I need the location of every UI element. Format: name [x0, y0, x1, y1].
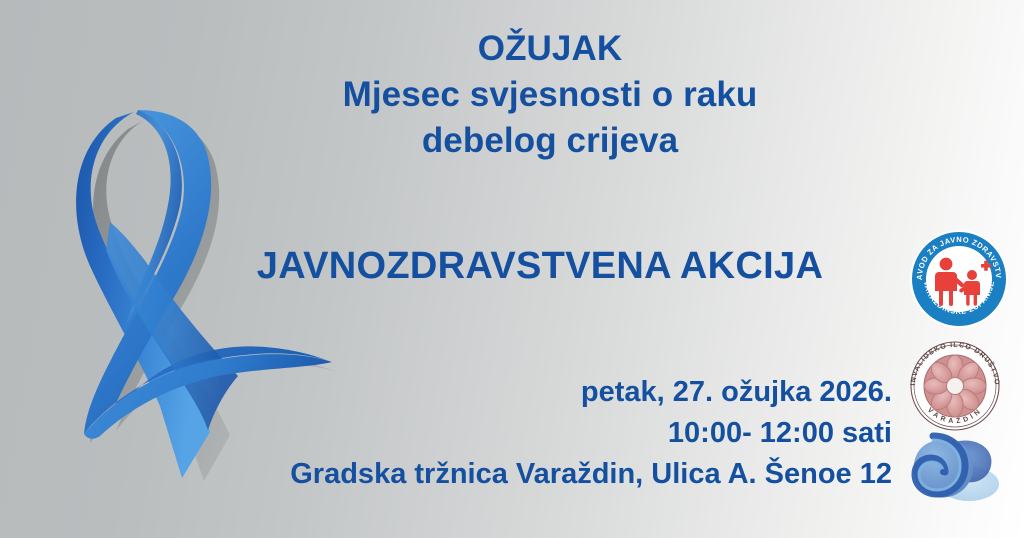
event-location: Gradska tržnica Varaždin, Ulica A. Šenoe…: [180, 454, 892, 495]
zavod-za-javno-zdravstvo-logo: ZAVOD ZA JAVNO ZDRAVSTVO VARAŽDINSKE ŽUP…: [908, 228, 1010, 330]
invalidsko-ilco-drustvo-logo: INVALIDSKO ILCO DRUŠTVO VARAŽDIN: [906, 338, 1004, 434]
blue-spiral-shell-logo: [903, 428, 1007, 514]
poster-headline: OŽUJAK Mjesec svjesnosti o raku debelog …: [270, 26, 830, 164]
headline-line-1: OŽUJAK: [270, 26, 830, 72]
event-details: petak, 27. ožujka 2026. 10:00- 12:00 sat…: [180, 372, 892, 495]
headline-line-2: Mjesec svjesnosti o raku: [270, 72, 830, 118]
event-date: petak, 27. ožujka 2026.: [180, 372, 892, 413]
flower-rosette-icon: [924, 355, 986, 417]
headline-line-3: debelog crijeva: [270, 118, 830, 164]
poster-canvas: OŽUJAK Mjesec svjesnosti o raku debelog …: [0, 0, 1024, 538]
action-title: JAVNOZDRAVSTVENA AKCIJA: [240, 245, 840, 288]
event-time: 10:00- 12:00 sati: [180, 413, 892, 454]
